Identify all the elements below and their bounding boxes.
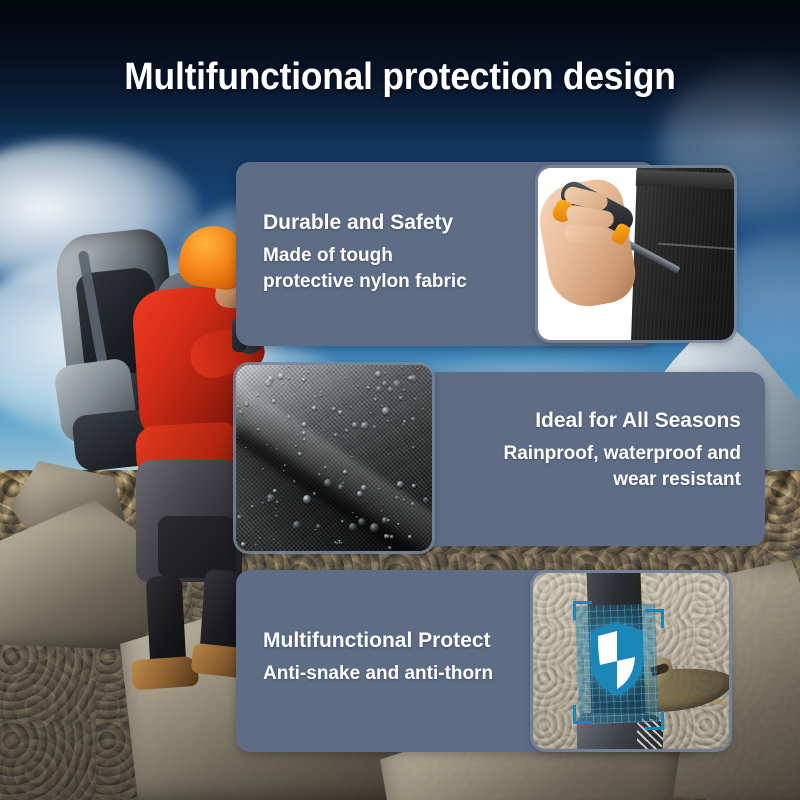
water-droplet [412,446,415,449]
water-droplet [370,523,379,533]
water-droplet [298,452,302,456]
water-droplet [387,519,390,522]
water-droplet [324,466,327,469]
water-droplet [266,444,268,446]
water-droplet [397,484,399,486]
feature-card-text: Durable and Safety Made of tough protect… [263,210,467,294]
water-droplet [293,480,296,483]
water-droplet [384,534,389,539]
water-droplet [402,423,405,426]
water-droplet [341,542,343,544]
feature-heading: Durable and Safety [263,210,467,236]
page-title: Multifunctional protection design [28,56,772,99]
water-droplet [343,470,348,474]
water-droplet [370,412,372,414]
water-droplet [303,495,311,504]
feature-heading: Ideal for All Seasons [504,408,742,434]
feature-image-ideal-for-all-seasons [236,365,432,551]
water-droplet [259,537,261,539]
water-droplet [402,366,404,368]
water-droplet [265,379,272,386]
water-droplet [390,535,394,539]
product-infographic: Multifunctional protection design Durabl… [0,0,800,800]
water-droplet [361,422,369,429]
water-droplet [381,510,383,512]
shield-icon [589,621,645,697]
water-droplet [287,415,291,419]
water-droplet [334,433,338,437]
hiking-boot-left [131,656,199,691]
water-droplet [341,520,344,523]
water-droplet [357,491,363,497]
corner-bracket-icon [573,705,592,724]
water-droplet [330,438,332,440]
water-droplet [251,505,254,508]
water-droplet [334,541,337,544]
water-droplet [422,408,424,410]
water-droplet [307,371,309,373]
water-droplet [276,501,279,503]
leg-gaiter-left [146,575,187,669]
water-droplet [403,499,405,501]
water-droplet [357,385,359,387]
water-droplet [267,494,275,502]
water-droplet [293,521,301,529]
water-droplet [393,380,402,387]
water-droplet [367,386,370,389]
water-droplet [417,368,419,370]
water-droplet [297,434,299,436]
water-droplet [288,365,290,367]
feature-image-multifunctional-protect [533,573,729,749]
feature-heading: Multifunctional Protect [263,628,493,654]
water-droplet [408,535,412,539]
water-droplet [412,484,416,488]
water-droplet [395,496,399,499]
water-droplet [332,407,336,411]
water-droplet [345,429,349,432]
water-droplet [349,523,357,531]
water-droplet [411,502,415,506]
feature-body: Rainproof, waterproof and wear resistant [504,441,742,491]
feature-card-text: Multifunctional Protect Anti-snake and a… [263,628,493,687]
corner-bracket-icon [645,711,664,730]
water-droplet [324,479,332,487]
water-droplet [415,398,417,400]
water-droplet [352,512,354,514]
feature-body: Anti-snake and anti-thorn [263,661,493,686]
water-droplet [288,377,290,379]
water-droplet [303,438,306,441]
water-droplet [361,485,367,491]
water-droplet [237,515,242,519]
feature-card-text: Ideal for All Seasons Rainproof, waterpr… [504,408,742,492]
corner-bracket-icon [645,609,664,628]
water-droplet [338,410,343,415]
water-droplet [314,395,317,398]
water-droplet [302,422,307,427]
water-droplet [312,406,317,410]
water-droplet [382,407,390,415]
water-droplet [276,448,278,450]
water-droplet [281,394,283,396]
water-droplet [382,381,388,386]
corner-bracket-icon [573,601,592,620]
feature-body: Made of tough protective nylon fabric [263,243,467,293]
water-droplet [313,492,316,496]
feature-image-durable-and-safety [538,168,734,340]
water-droplet [273,489,277,493]
water-droplet [351,456,353,458]
water-droplet [408,376,413,380]
water-droplet [338,484,344,490]
water-droplet [246,401,248,403]
water-droplet [399,396,403,400]
water-droplet [241,542,246,547]
water-droplet [384,372,386,374]
water-droplet [239,410,243,414]
water-droplet [388,387,393,392]
water-droplet [403,389,405,391]
water-droplet [282,383,284,385]
water-droplet [376,386,382,392]
pants-knee-panel [158,516,236,578]
water-droplet [255,544,257,546]
water-droplet [381,405,383,407]
water-droplet [388,546,392,550]
